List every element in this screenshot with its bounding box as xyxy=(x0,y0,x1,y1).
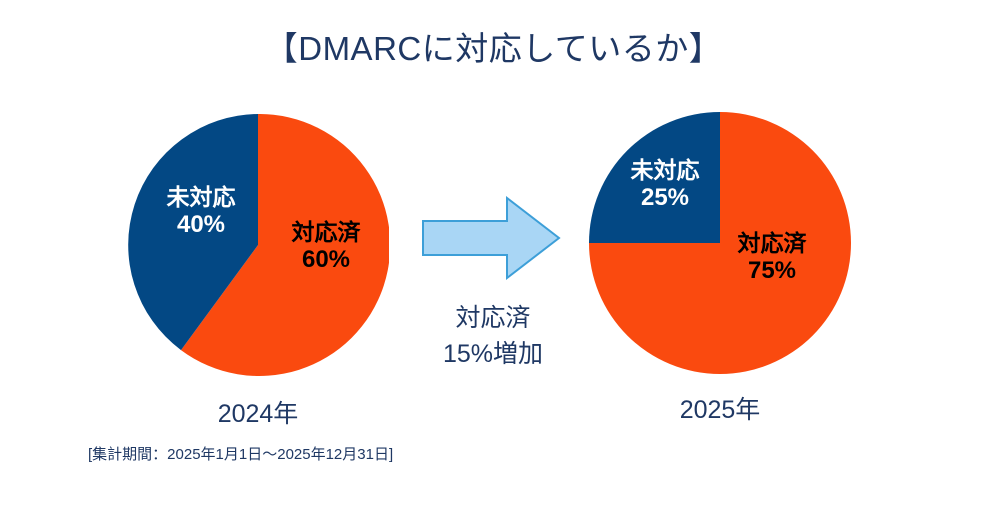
pie-slice-not-responded-2025 xyxy=(589,112,720,243)
growth-note-line2: 15%増加 xyxy=(408,336,578,372)
arrow-right-shape xyxy=(423,198,559,278)
arrow-right-icon xyxy=(421,196,561,280)
pie-chart-2025-svg xyxy=(589,112,851,374)
pie-caption-2025: 2025年 xyxy=(610,390,830,426)
footnote-period: [集計期間：2025年1月1日～2025年12月31日] xyxy=(88,443,393,464)
page-title: 【DMARCに対応しているか】 xyxy=(0,22,987,70)
growth-note-line1: 対応済 xyxy=(408,300,578,336)
slide-canvas: 【DMARCに対応しているか】 未対応 40% 対応済 60% 2024年 対応… xyxy=(0,0,987,507)
pie-caption-2024: 2024年 xyxy=(148,394,368,430)
pie-chart-2025: 未対応 25% 対応済 75% xyxy=(589,112,851,374)
pie-chart-2024: 未対応 40% 対応済 60% xyxy=(127,114,389,376)
growth-arrow xyxy=(421,196,561,280)
pie-chart-2024-svg xyxy=(127,114,389,376)
growth-note: 対応済 15%増加 xyxy=(408,300,578,373)
